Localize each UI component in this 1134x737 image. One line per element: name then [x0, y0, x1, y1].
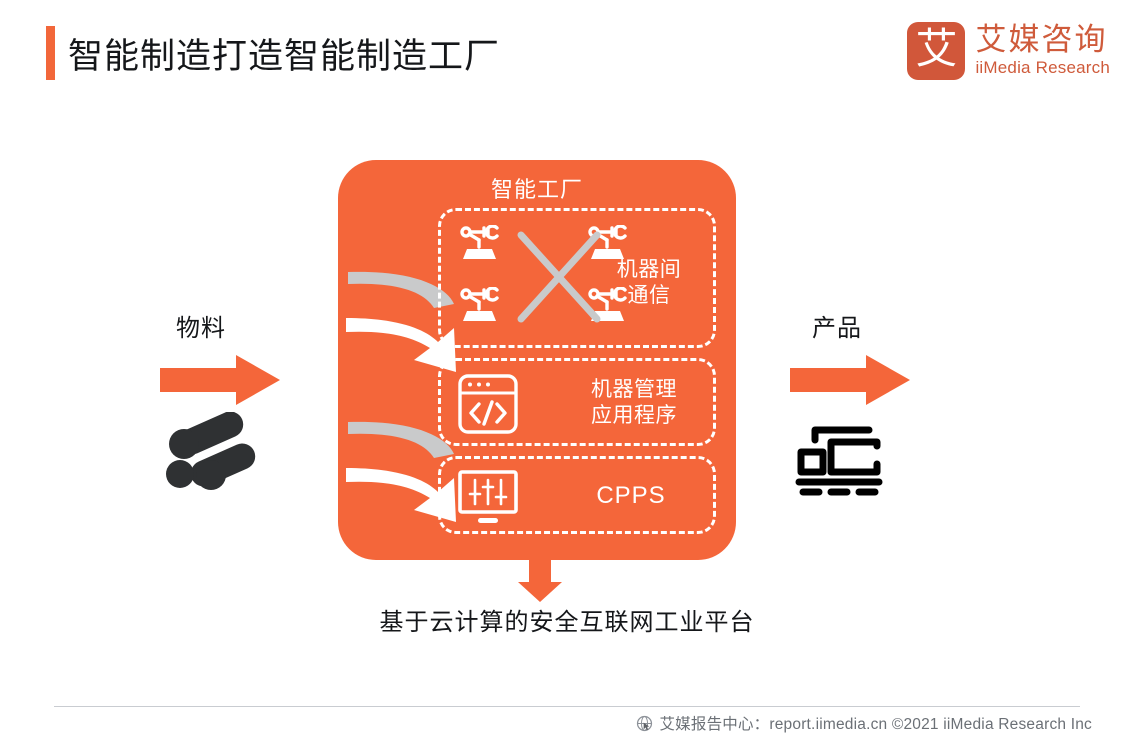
footer-divider — [54, 706, 1080, 707]
title-accent-bar — [46, 26, 55, 80]
brand-name-en: iiMedia Research — [975, 58, 1110, 78]
iimedia-logo-mark: 艾 — [907, 22, 965, 80]
cross-link-icon — [513, 229, 605, 325]
platform-down-arrow — [518, 560, 562, 602]
layer-m2m-label-line1: 机器间 — [601, 257, 697, 283]
layer-cpps-label: CPPS — [571, 481, 691, 511]
platform-caption: 基于云计算的安全互联网工业平台 — [0, 602, 1134, 637]
brand-logo-text: 艾媒咨询 iiMedia Research — [975, 24, 1110, 79]
raw-logs-icon — [160, 412, 256, 494]
layer-m2m-label-line2: 通信 — [601, 283, 697, 309]
product-label: 产品 — [812, 308, 862, 343]
monitor-sliders-icon — [457, 469, 519, 525]
layer-m2m-label: 机器间 通信 — [601, 257, 697, 310]
globe-icon — [636, 715, 653, 732]
slide-header: 智能制造打造智能制造工厂 艾 艾媒咨询 iiMedia Research — [0, 0, 1134, 110]
robot-arm-icon — [459, 225, 505, 265]
layer-cpps-box: CPPS — [438, 456, 716, 534]
material-label: 物料 — [176, 308, 226, 343]
slide-canvas: 智能制造打造智能制造工厂 艾 艾媒咨询 iiMedia Research 物料 … — [0, 0, 1134, 737]
layer-app-label-line2: 应用程序 — [569, 403, 699, 429]
footer-text: 艾媒报告中心：report.iimedia.cn ©2021 iiMedia R… — [659, 712, 1092, 734]
material-inflow-arrow — [160, 355, 280, 405]
code-window-icon — [457, 373, 519, 435]
layer-app-box: 机器管理 应用程序 — [438, 358, 716, 446]
layer-app-label: 机器管理 应用程序 — [569, 377, 699, 430]
logo-mark-glyph: 艾 — [915, 28, 957, 70]
finished-devices-icon — [793, 420, 893, 500]
layer-m2m-box: 机器间 通信 — [438, 208, 716, 348]
page-title: 智能制造打造智能制造工厂 — [68, 28, 500, 79]
smart-factory-panel: 智能工厂 — [338, 160, 736, 560]
footer-bar: 艾媒报告中心：report.iimedia.cn ©2021 iiMedia R… — [636, 712, 1092, 734]
layer-app-label-line1: 机器管理 — [569, 377, 699, 403]
robot-arm-icon — [459, 287, 505, 327]
brand-name-cn: 艾媒咨询 — [975, 24, 1110, 57]
brand-logo: 艾 艾媒咨询 iiMedia Research — [907, 22, 1110, 80]
product-outflow-arrow — [790, 355, 910, 405]
factory-label: 智能工厂 — [338, 172, 736, 204]
